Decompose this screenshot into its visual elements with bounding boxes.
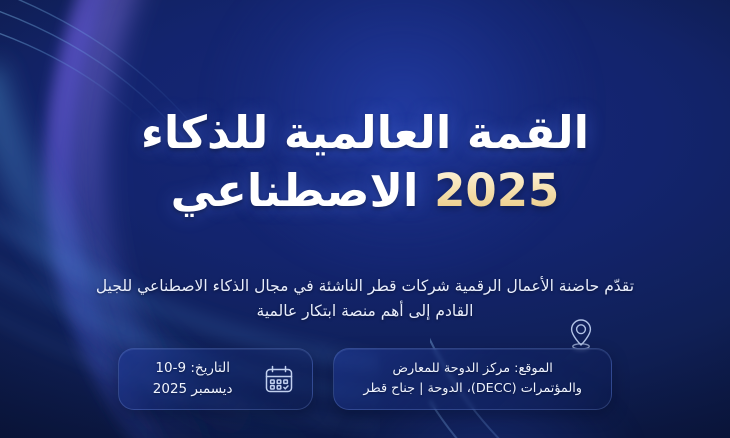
banner-content: القمة العالمية للذكاء 2025 الاصطناعي تقد… — [0, 0, 730, 438]
title-line-2: 2025 الاصطناعي — [0, 162, 730, 220]
title-year: 2025 — [434, 164, 559, 217]
date-line-1: التاريخ: 9-10 — [155, 360, 230, 376]
location-line-1: الموقع: مركز الدوحة للمعارض — [393, 361, 553, 376]
title-line-1: القمة العالمية للذكاء — [0, 104, 730, 162]
location-line-2: والمؤتمرات (DECC)، الدوحة | جناح قطر — [363, 381, 582, 396]
calendar-icon — [262, 362, 296, 396]
title-line-2-text: الاصطناعي — [171, 164, 419, 217]
location-card-text: الموقع: مركز الدوحة للمعارض والمؤتمرات (… — [350, 359, 595, 399]
date-card-text: التاريخ: 9-10 ديسمبر 2025 — [135, 358, 250, 400]
location-card[interactable]: الموقع: مركز الدوحة للمعارض والمؤتمرات (… — [333, 348, 612, 410]
banner-title: القمة العالمية للذكاء 2025 الاصطناعي — [0, 104, 730, 219]
date-line-2: ديسمبر 2025 — [153, 381, 233, 397]
info-cards: الموقع: مركز الدوحة للمعارض والمؤتمرات (… — [0, 348, 730, 410]
event-banner: القمة العالمية للذكاء 2025 الاصطناعي تقد… — [0, 0, 730, 438]
date-card[interactable]: التاريخ: 9-10 ديسمبر 2025 — [118, 348, 313, 410]
banner-subtitle: تقدّم حاضنة الأعمال الرقمية شركات قطر ال… — [87, 274, 643, 325]
